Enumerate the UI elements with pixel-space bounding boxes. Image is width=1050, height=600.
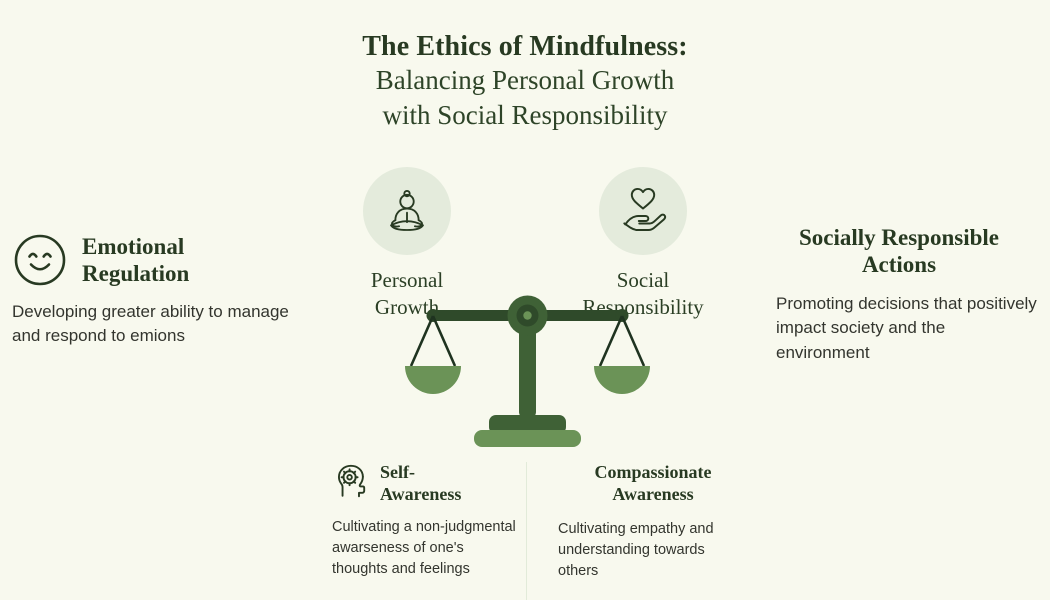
compassionate-awareness-heading: Compassionate Awareness <box>558 462 748 506</box>
self-awareness-header: Self- Awareness <box>332 462 522 506</box>
title-block: The Ethics of Mindfulness: Balancing Per… <box>295 30 755 132</box>
compassionate-awareness-heading-line-2: Awareness <box>558 484 748 506</box>
balance-scale-icon <box>405 288 650 458</box>
socially-responsible-heading-line-1: Socially Responsible <box>758 224 1040 251</box>
bottom-cards-divider <box>526 462 527 600</box>
meditating-person-icon <box>379 181 435 242</box>
smiley-face-icon <box>12 232 68 288</box>
emotional-regulation-heading: Emotional Regulation <box>82 233 189 287</box>
socially-responsible-body: Promoting decisions that positively impa… <box>758 292 1040 364</box>
social-responsibility-badge <box>599 167 687 255</box>
emotional-regulation-body: Developing greater ability to manage and… <box>12 300 294 348</box>
socially-responsible-actions-section: Socially Responsible Actions Promoting d… <box>758 224 1040 365</box>
title-line-1: The Ethics of Mindfulness: <box>295 30 755 63</box>
title-line-2: Balancing Personal Growth <box>295 63 755 98</box>
title-line-3: with Social Responsibility <box>295 98 755 133</box>
emotional-regulation-section: Emotional Regulation Developing greater … <box>12 232 294 348</box>
socially-responsible-heading-line-2: Actions <box>758 251 1040 278</box>
emotional-regulation-heading-line-1: Emotional <box>82 233 189 260</box>
self-awareness-heading-line-1: Self- <box>380 462 461 484</box>
emotional-regulation-header: Emotional Regulation <box>12 232 294 288</box>
emotional-regulation-heading-line-2: Regulation <box>82 260 189 287</box>
head-with-gear-icon <box>332 463 370 501</box>
compassionate-awareness-heading-line-1: Compassionate <box>558 462 748 484</box>
self-awareness-heading-line-2: Awareness <box>380 484 461 506</box>
card-self-awareness: Self- Awareness Cultivating a non-judgme… <box>332 462 522 580</box>
infographic-canvas: The Ethics of Mindfulness: Balancing Per… <box>0 0 1050 600</box>
heart-in-hand-icon <box>615 181 671 242</box>
self-awareness-body: Cultivating a non-judgmental awarseness … <box>332 517 522 580</box>
self-awareness-heading: Self- Awareness <box>380 462 461 506</box>
personal-growth-badge <box>363 167 451 255</box>
compassionate-awareness-body: Cultivating empathy and understanding to… <box>558 519 748 582</box>
card-compassionate-awareness: Compassionate Awareness Cultivating empa… <box>558 462 748 582</box>
